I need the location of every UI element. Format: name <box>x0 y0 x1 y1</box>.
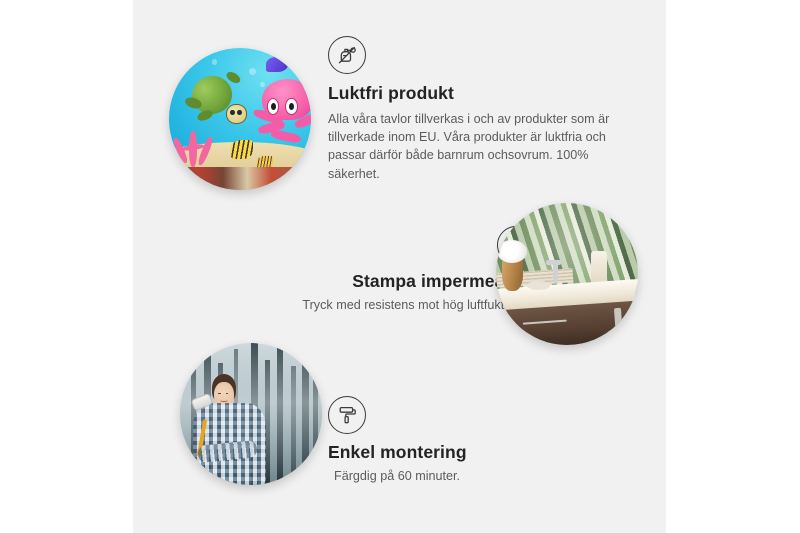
woman-with-roller <box>189 374 271 485</box>
feature-title: Luktfri produkt <box>328 83 628 105</box>
feature-body: Alla våra tavlor tillverkas i och av pro… <box>328 110 628 183</box>
feature-body: Färgdig på 60 minuter. <box>328 467 618 485</box>
pink-octopus <box>251 79 311 150</box>
pink-coral <box>175 125 223 168</box>
green-sea-turtle <box>187 76 244 124</box>
paint-roller-icon <box>328 396 366 434</box>
feature-title: Enkel montering <box>328 442 618 464</box>
feature-block-odourless: Luktfri produkt Alla våra tavlor tillver… <box>328 36 628 183</box>
page-root: Luktfri produkt Alla våra tavlor tillver… <box>0 0 800 533</box>
underwater-scene-art <box>169 48 311 190</box>
bathroom-scene-art <box>496 203 638 345</box>
striped-yellow-fish <box>231 140 252 158</box>
white-flowers <box>497 240 527 263</box>
no-fragrance-icon <box>328 36 366 74</box>
underwater-kids-mural-photo[interactable] <box>169 48 311 190</box>
feature-title: Stampa impermeabile <box>205 271 535 293</box>
soap-dish <box>527 281 550 290</box>
water-bubble <box>249 68 256 75</box>
painter-forest-mural-photo[interactable] <box>180 343 322 485</box>
soap-bottle <box>591 251 607 285</box>
content-canvas: Luktfri produkt Alla våra tavlor tillver… <box>133 0 666 533</box>
feature-block-assembly: Enkel montering Färgdig på 60 minuter. <box>328 396 618 485</box>
feature-block-waterproof: Stampa impermeabile Tryck med resistens … <box>205 226 535 314</box>
bathroom-tropical-wallpaper-photo[interactable] <box>496 203 638 345</box>
painter-scene-art <box>180 343 322 485</box>
feature-body: Tryck med resistens mot hög luftfuktighe… <box>205 296 535 314</box>
reef-foreground-strip <box>169 167 311 190</box>
chrome-tap <box>553 260 559 283</box>
purple-fish <box>266 57 289 73</box>
